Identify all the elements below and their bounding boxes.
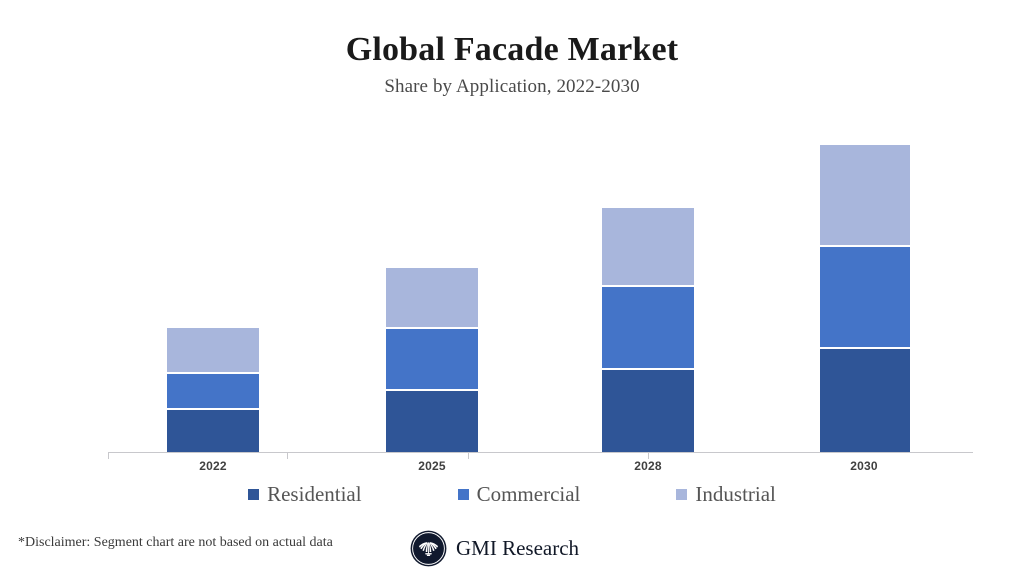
bar-stack [386, 266, 478, 452]
bar-segment-industrial[interactable] [602, 206, 694, 285]
bar-segment-commercial[interactable] [386, 327, 478, 389]
legend-swatch-icon [676, 489, 687, 500]
bar-stack [602, 206, 694, 452]
bar-segment-residential[interactable] [602, 368, 694, 452]
legend-item-industrial[interactable]: Industrial [676, 482, 775, 507]
bar-stack [167, 326, 259, 452]
x-axis-label-2022: 2022 [167, 459, 259, 473]
bar-segment-commercial[interactable] [167, 372, 259, 408]
bar-segment-industrial[interactable] [386, 266, 478, 327]
legend-swatch-icon [248, 489, 259, 500]
bar-group-2028[interactable] [602, 206, 694, 452]
legend-swatch-icon [458, 489, 469, 500]
legend-item-commercial[interactable]: Commercial [458, 482, 581, 507]
brand-name: GMI Research [456, 536, 579, 561]
gmi-palm-circle-icon [410, 530, 447, 567]
bar-group-2030[interactable] [820, 143, 910, 452]
bar-segment-commercial[interactable] [820, 245, 910, 347]
legend-label: Residential [267, 482, 361, 507]
disclaimer-text: *Disclaimer: Segment chart are not based… [18, 535, 333, 551]
axis-tick [287, 452, 288, 459]
brand-block: GMI Research [410, 530, 579, 567]
bar-segment-residential[interactable] [167, 408, 259, 452]
bar-group-2022[interactable] [167, 326, 259, 452]
legend-label: Industrial [695, 482, 775, 507]
bar-segment-residential[interactable] [820, 347, 910, 452]
axis-tick [468, 452, 469, 459]
axis-tick [648, 452, 649, 459]
legend-item-residential[interactable]: Residential [248, 482, 361, 507]
bar-segment-residential[interactable] [386, 389, 478, 452]
bar-segment-industrial[interactable] [820, 143, 910, 245]
axis-tick [108, 452, 109, 459]
x-axis-line [108, 452, 973, 453]
legend-label: Commercial [477, 482, 581, 507]
bar-segment-commercial[interactable] [602, 285, 694, 368]
chart-footer: *Disclaimer: Segment chart are not based… [0, 528, 1024, 576]
bar-group-2025[interactable] [386, 266, 478, 452]
x-axis-label-2030: 2030 [818, 459, 910, 473]
chart-legend: Residential Commercial Industrial [0, 482, 1024, 507]
x-axis-label-2028: 2028 [602, 459, 694, 473]
bar-segment-industrial[interactable] [167, 326, 259, 372]
bar-stack [820, 143, 910, 452]
x-axis-label-2025: 2025 [386, 459, 478, 473]
